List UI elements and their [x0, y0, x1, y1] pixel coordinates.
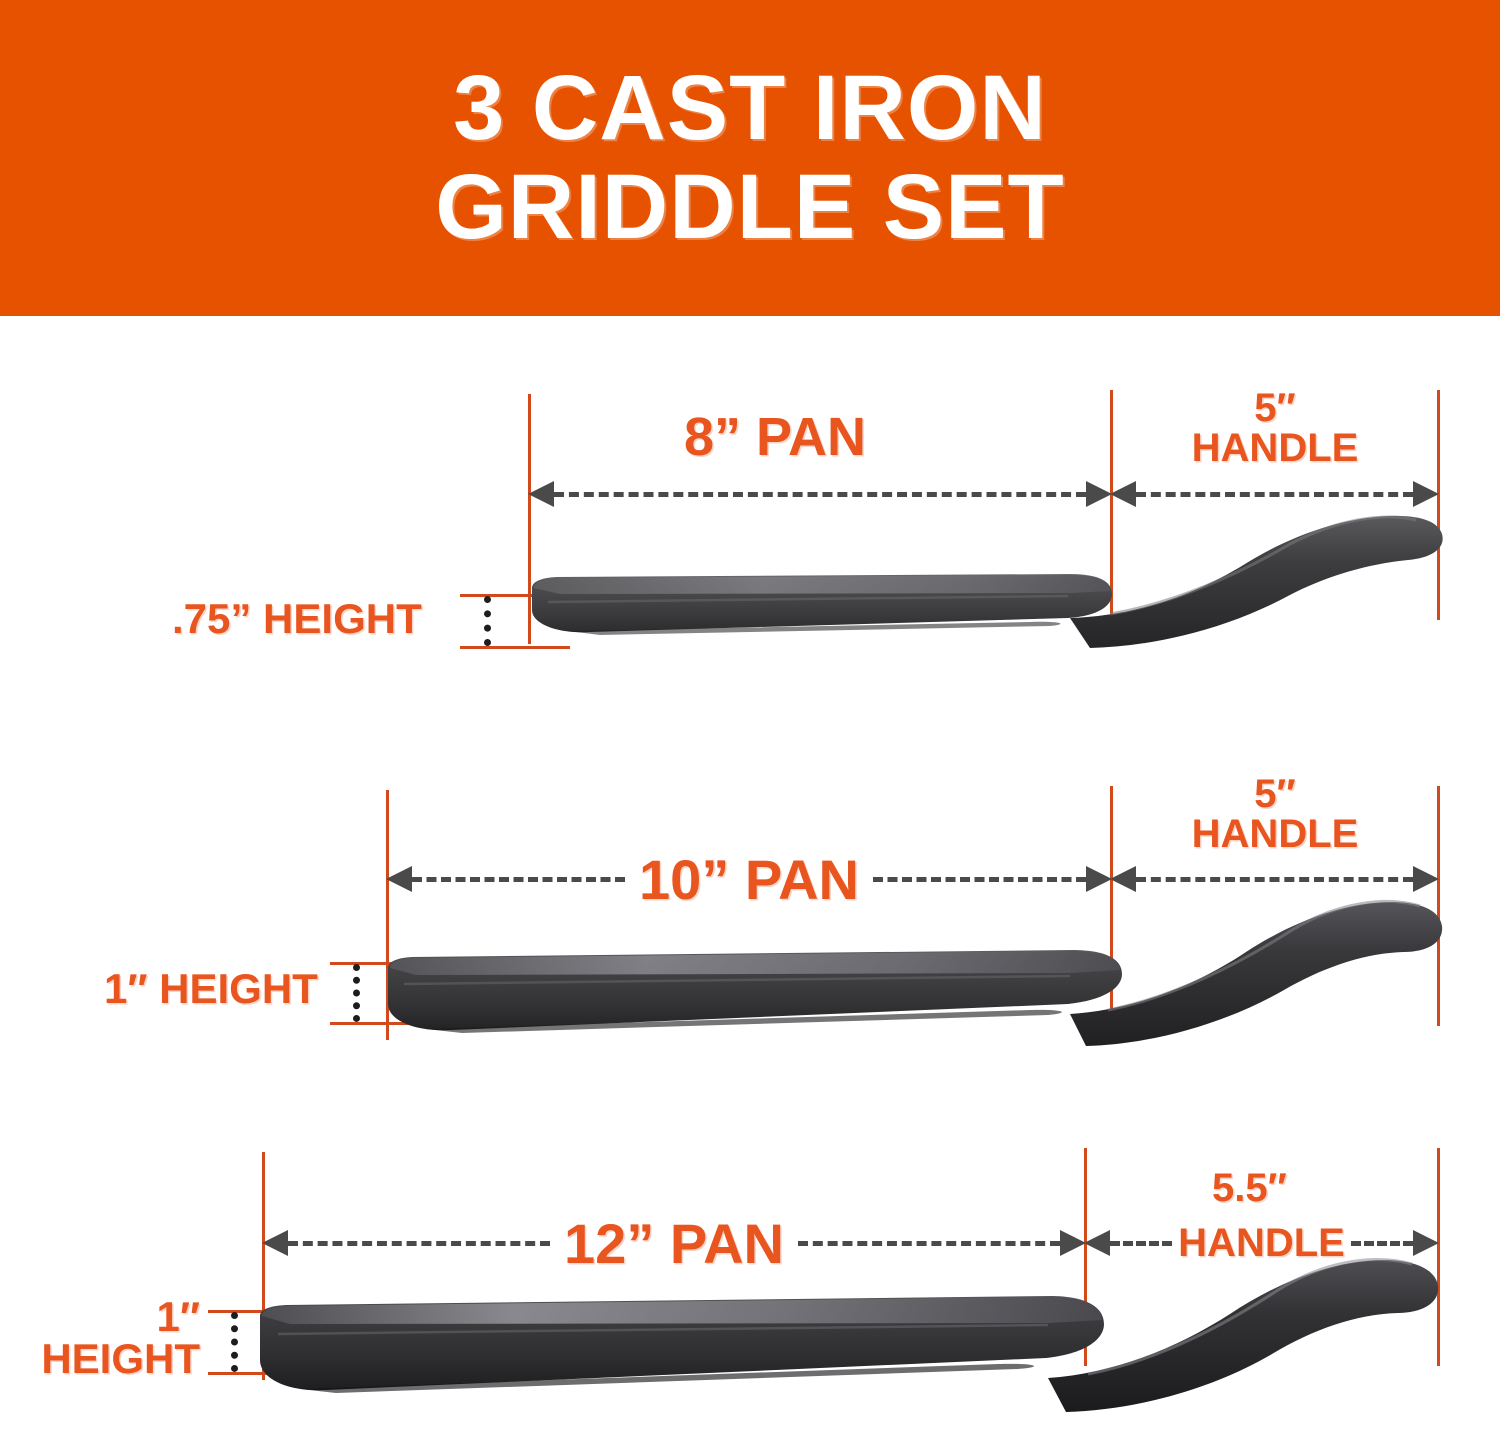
pan-rim-highlight [534, 575, 1110, 594]
pan-width-label-8: 8” PAN [684, 410, 866, 464]
header-title-line-2: GRIDDLE SET [435, 158, 1064, 257]
handle-word-10: HANDLE [1140, 814, 1410, 854]
pan-handle-shape [1070, 516, 1443, 648]
header-banner: 3 CAST IRON GRIDDLE SET [0, 0, 1500, 316]
height-value-12: 1″ [0, 1296, 200, 1338]
height-label-12: 1″ HEIGHT [0, 1296, 200, 1380]
pan-section-8-inch: 8” PAN 5″ HANDLE .75” HEIGHT [0, 330, 1500, 690]
handle-label-10: 5″ HANDLE [1140, 774, 1410, 854]
pan-illustration-8-inch [470, 490, 1460, 690]
pan-illustration-12-inch [208, 1238, 1458, 1444]
header-title-line-1: 3 CAST IRON [453, 59, 1047, 158]
handle-length-value-12: 5.5″ [1212, 1168, 1287, 1208]
height-label-10: 1″ HEIGHT [104, 968, 318, 1010]
pan-section-12-inch: 12” PAN HANDLE 5.5″ 1″ HEIGHT [0, 1120, 1500, 1444]
height-label-8: .75” HEIGHT [172, 598, 422, 640]
handle-label-8: 5″ HANDLE [1140, 388, 1410, 468]
pan-illustration-10-inch [330, 880, 1460, 1080]
infographic-page: 3 CAST IRON GRIDDLE SET 8” PAN 5″ HANDLE [0, 0, 1500, 1444]
pan-rim-highlight [390, 951, 1120, 975]
height-word-12: HEIGHT [0, 1338, 200, 1380]
pan-handle-shape [1070, 902, 1442, 1046]
handle-length-value-10: 5″ [1140, 774, 1410, 814]
pan-handle-shape [1048, 1260, 1438, 1412]
pan-section-10-inch: 10” PAN 5″ HANDLE 1″ HEIGHT [0, 730, 1500, 1100]
handle-word-8: HANDLE [1140, 428, 1410, 468]
handle-length-value-8: 5″ [1140, 388, 1410, 428]
